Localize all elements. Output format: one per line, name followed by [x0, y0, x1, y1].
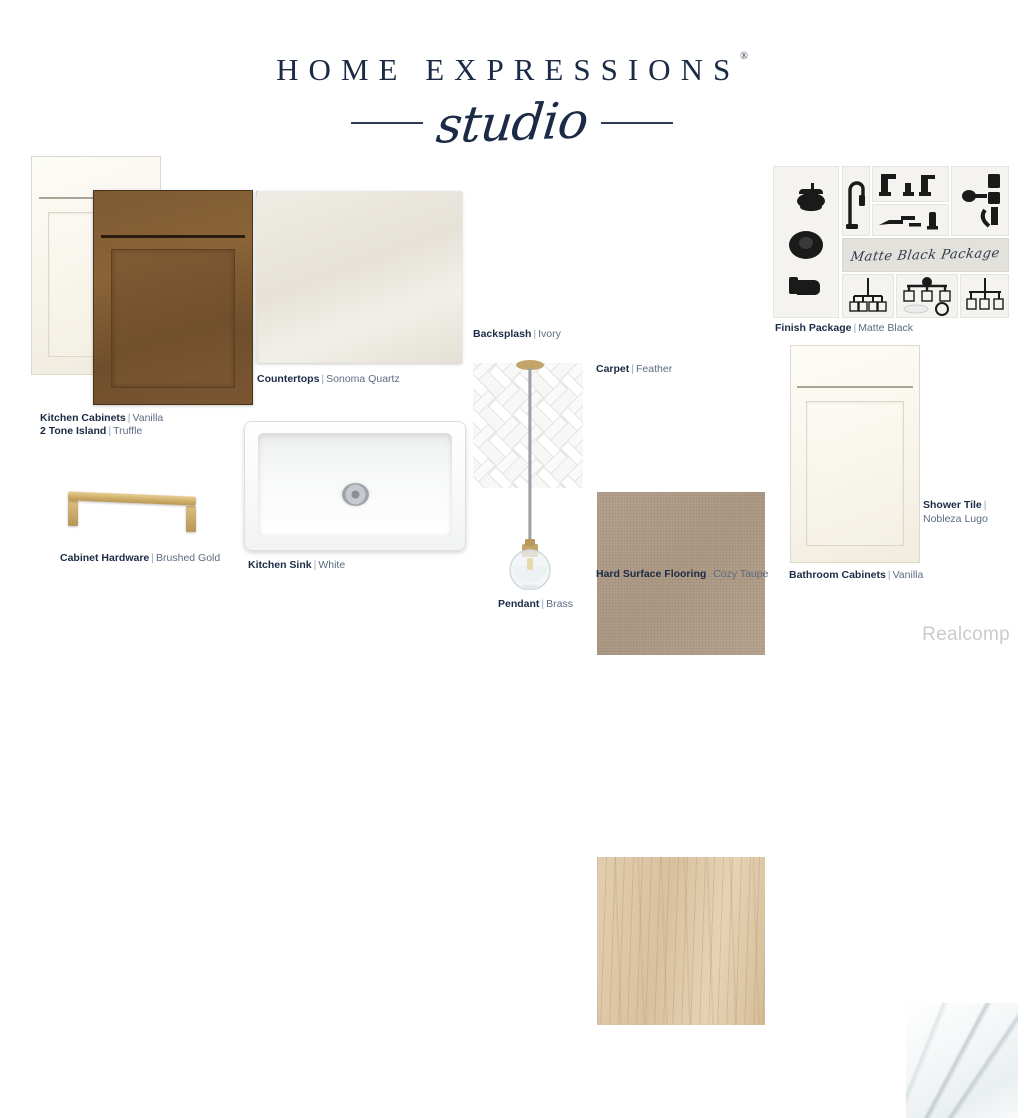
shower-tile-swatch [906, 1003, 1018, 1118]
caption-value: Brushed Gold [156, 552, 220, 564]
finish-tile-vanity-light [896, 274, 958, 318]
caption-label: Shower Tile [923, 499, 982, 511]
door-rail [101, 235, 245, 238]
cabinet-door-truffle [93, 190, 253, 405]
shower-valve-trim-icon [783, 225, 829, 265]
finish-package-grid: Matte Black Package [773, 166, 1009, 318]
logo-wordmark: HOME EXPRESSIONS® [276, 52, 748, 88]
realcomp-watermark: Realcomp [922, 624, 1010, 646]
caption-label: 2 Tone Island [40, 425, 106, 437]
finish-tile-door-handleset [951, 166, 1009, 236]
countertops-swatch [256, 191, 462, 363]
caption-label: Kitchen Sink [248, 559, 312, 571]
logo-rule-left [351, 122, 423, 124]
finish-package-swatch: Matte Black Package [773, 166, 1009, 318]
brand-logo: HOME EXPRESSIONS® studio [0, 52, 1024, 156]
chandelier-icon [845, 276, 891, 316]
caption-value: Truffle [113, 425, 142, 437]
caption-separator: | [629, 363, 636, 375]
caption-label: Countertops [257, 373, 319, 385]
wood-plank-texture [597, 857, 765, 1025]
matte-black-package-label: Matte Black Package [850, 246, 1001, 265]
caption-value: Matte Black [858, 322, 913, 334]
pull-foot-left [68, 500, 78, 526]
logo-rule-right [601, 122, 673, 124]
caption-separator: | [886, 569, 893, 581]
bar-pull-icon [68, 491, 196, 505]
sink-basin [258, 433, 452, 537]
kitchen-sink-swatch [244, 421, 466, 551]
caption-label: Bathroom Cabinets [789, 569, 886, 581]
finish-tile-accessories [872, 204, 949, 236]
linear-chandelier-icon [963, 276, 1007, 316]
vanity-light-bar-icon [899, 276, 955, 316]
quartz-texture [256, 191, 462, 363]
caption-value: Nobleza Lugo [923, 513, 988, 525]
sink-drain-icon [342, 483, 369, 506]
finish-tile-kitchen-faucet [842, 166, 870, 236]
door-panel [806, 401, 904, 546]
marble-tile-texture [906, 1003, 1018, 1118]
pull-foot-right [186, 506, 196, 532]
logo-script-row: studio [0, 90, 1024, 156]
caption-label: Cabinet Hardware [60, 552, 149, 564]
registered-trademark-icon: ® [740, 51, 748, 62]
finish-tile-shower-group [773, 166, 839, 318]
caption-value: Vanilla [893, 569, 924, 581]
caption-value: Sonoma Quartz [326, 373, 400, 385]
hard-surface-flooring-swatch [597, 857, 765, 1025]
selection-board: HOME EXPRESSIONS® studio Kitchen Cabinet… [0, 0, 1024, 660]
pendant-light-icon [500, 358, 560, 590]
bathroom-cabinets-caption: Bathroom Cabinets|Vanilla [789, 569, 923, 582]
caption-label: Carpet [596, 363, 629, 375]
finish-tile-chandelier [842, 274, 894, 318]
caption-line-2: 2 Tone Island|Truffle [40, 425, 163, 438]
caption-label: Backsplash [473, 328, 531, 340]
caption-value: Cozy Taupe [713, 568, 768, 580]
pull-down-kitchen-faucet-icon [844, 170, 868, 232]
caption-label: Finish Package [775, 322, 851, 334]
caption-separator [706, 568, 710, 580]
caption-line-1: Kitchen Cabinets|Vanilla [40, 412, 163, 425]
finish-tile-lavatory-faucets [872, 166, 949, 202]
kitchen-cabinets-swatch [31, 156, 222, 405]
matte-black-package-band: Matte Black Package [842, 238, 1009, 272]
caption-value: Ivory [538, 328, 561, 340]
logo-script-text: studio [426, 95, 598, 151]
carpet-caption: Carpet|Feather [596, 363, 672, 376]
pendant-light-swatch [500, 358, 560, 590]
logo-wordmark-text: HOME EXPRESSIONS [276, 52, 740, 87]
caption-value: White [318, 559, 345, 571]
cabinet-hardware-caption: Cabinet Hardware|Brushed Gold [60, 552, 220, 565]
caption-value: Brass [546, 598, 573, 610]
kitchen-sink-caption: Kitchen Sink|White [248, 559, 345, 572]
hard-surface-flooring-caption: Hard Surface Flooring Cozy Taupe [596, 568, 768, 581]
shower-tile-caption: Shower Tile|Nobleza Lugo [923, 498, 1023, 526]
caption-label: Hard Surface Flooring [596, 568, 706, 580]
caption-value: Feather [636, 363, 672, 375]
backsplash-caption: Backsplash|Ivory [473, 328, 561, 341]
caption-value: Vanilla [133, 412, 164, 424]
caption-label: Kitchen Cabinets [40, 412, 126, 424]
tub-spout-icon [783, 271, 829, 305]
pendant-caption: Pendant|Brass [498, 598, 573, 611]
lavatory-faucet-icon [875, 169, 947, 199]
bathroom-cabinet-door [790, 345, 920, 563]
shower-head-icon [783, 179, 829, 219]
caption-separator: | [126, 412, 133, 424]
caption-separator: | [149, 552, 156, 564]
cabinet-hardware-swatch [62, 482, 202, 534]
caption-label: Pendant [498, 598, 539, 610]
door-rail [797, 386, 913, 388]
countertops-caption: Countertops|Sonoma Quartz [257, 373, 400, 386]
finish-package-caption: Finish Package|Matte Black [775, 322, 913, 335]
caption-separator: | [982, 499, 989, 511]
door-handleset-icon [955, 170, 1005, 232]
bathroom-cabinets-swatch [790, 345, 920, 563]
sink-body [244, 421, 466, 551]
door-panel [111, 249, 235, 388]
finish-tile-linear-chandelier [960, 274, 1009, 318]
kitchen-cabinets-caption: Kitchen Cabinets|Vanilla 2 Tone Island|T… [40, 412, 163, 438]
towel-bar-icon [875, 207, 947, 233]
